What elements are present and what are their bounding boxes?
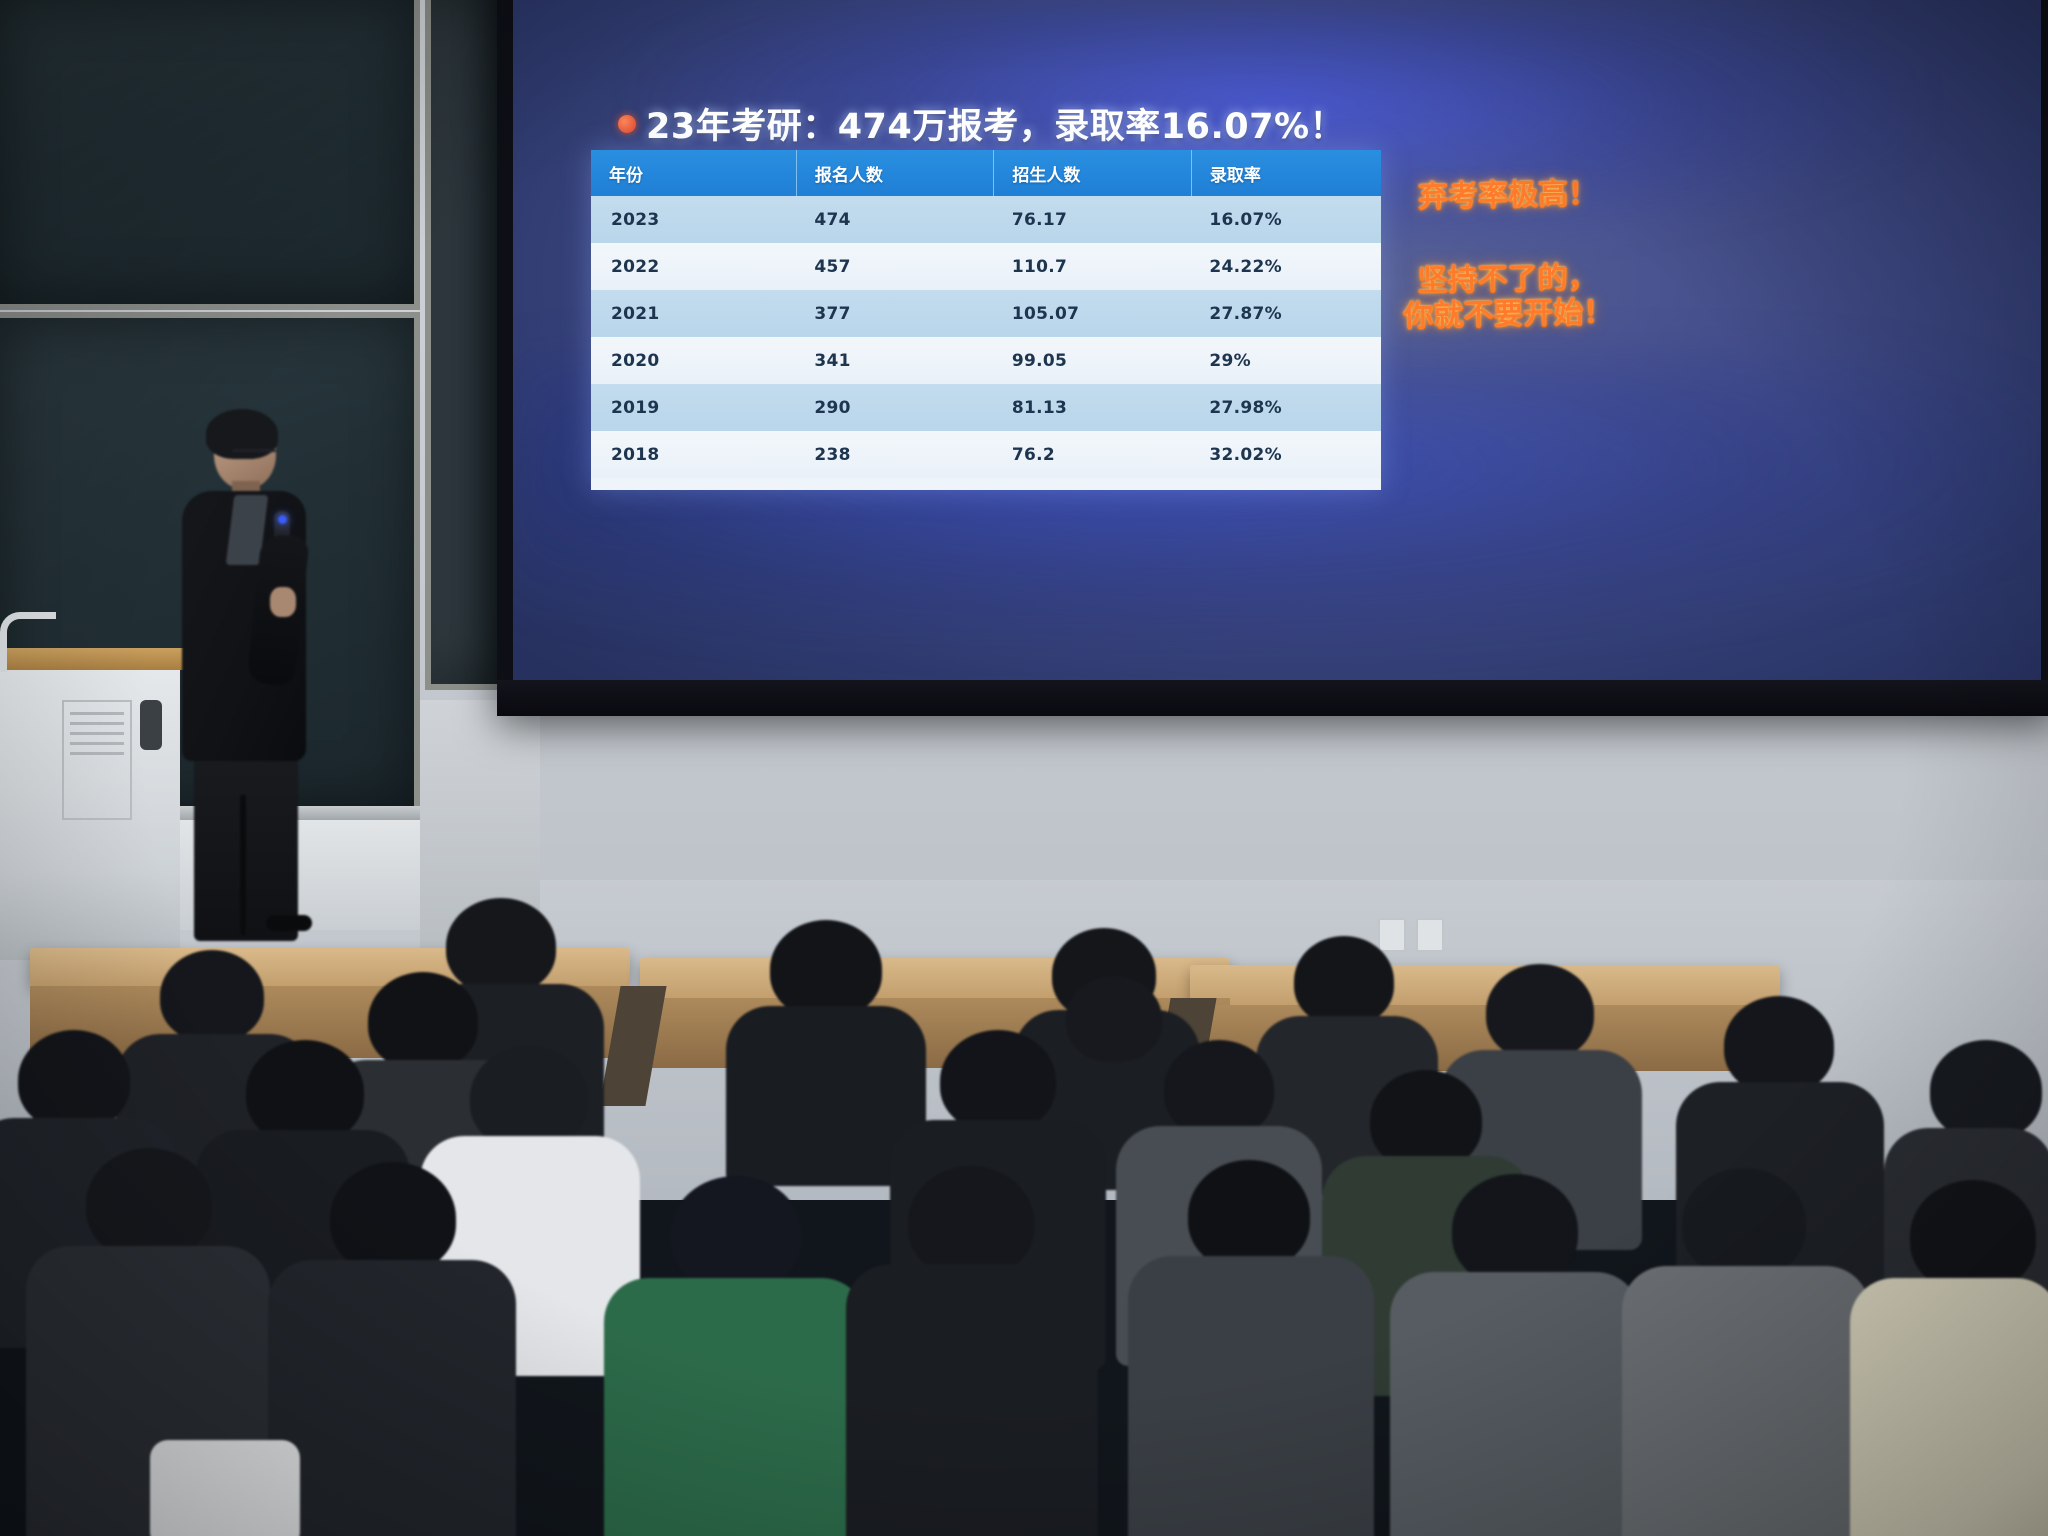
projection-surface: 23年考研：474万报考，录取率16.07%！ 年份 报名人数 招生人数 录取率 bbox=[513, 0, 2041, 680]
table-header: 年份 报名人数 招生人数 录取率 bbox=[591, 150, 1381, 196]
cell-rate: 24.22% bbox=[1191, 243, 1381, 290]
cell-applicants: 290 bbox=[796, 384, 994, 431]
cell-applicants: 238 bbox=[796, 431, 994, 478]
audience-body bbox=[846, 1264, 1098, 1536]
audience-head bbox=[368, 972, 478, 1070]
cell-applicants: 457 bbox=[796, 243, 994, 290]
audience-head bbox=[246, 1040, 364, 1144]
cell-rate: 27.87% bbox=[1191, 290, 1381, 337]
cell-admitted: 76.17 bbox=[994, 196, 1192, 243]
lectern-handle bbox=[140, 700, 162, 750]
chalkboard-side-panel bbox=[425, 0, 505, 690]
screen-frame-bottom bbox=[497, 680, 2048, 716]
audience-chair-back bbox=[150, 1440, 300, 1536]
audience-head bbox=[908, 1166, 1034, 1278]
red-dot-icon bbox=[618, 115, 636, 133]
table-body: 2023 474 76.17 16.07% 2022 457 110.7 24.… bbox=[591, 196, 1381, 478]
cell-applicants: 474 bbox=[796, 196, 994, 243]
audience-body bbox=[1850, 1278, 2048, 1536]
cell-year: 2020 bbox=[591, 337, 796, 384]
cell-applicants: 377 bbox=[796, 290, 994, 337]
audience-body bbox=[268, 1260, 516, 1536]
audience-head bbox=[446, 898, 556, 994]
lectern-mic-arm bbox=[0, 612, 56, 672]
audience-head bbox=[1294, 936, 1394, 1026]
cell-rate: 16.07% bbox=[1191, 196, 1381, 243]
cell-year: 2022 bbox=[591, 243, 796, 290]
audience-head bbox=[86, 1148, 212, 1260]
audience-head bbox=[1682, 1168, 1806, 1278]
table-row: 2018 238 76.2 32.02% bbox=[591, 431, 1381, 478]
cell-year: 2019 bbox=[591, 384, 796, 431]
audience-head bbox=[330, 1162, 456, 1274]
audience-head bbox=[1066, 976, 1162, 1062]
stats-table-container: 年份 报名人数 招生人数 录取率 2023 474 76.17 bbox=[591, 150, 1381, 490]
persistence-note: 坚持不了的， 你就不要开始！ bbox=[1402, 260, 1613, 335]
cell-admitted: 81.13 bbox=[994, 384, 1192, 431]
cell-admitted: 76.2 bbox=[994, 431, 1192, 478]
stats-table: 年份 报名人数 招生人数 录取率 2023 474 76.17 bbox=[591, 150, 1381, 478]
audience-body bbox=[1128, 1256, 1374, 1536]
presenter bbox=[170, 415, 320, 935]
slide-content: 23年考研：474万报考，录取率16.07%！ 年份 报名人数 招生人数 录取率 bbox=[513, 0, 2041, 680]
audience bbox=[0, 880, 2048, 1536]
table-header-row: 年份 报名人数 招生人数 录取率 bbox=[591, 150, 1381, 196]
cell-rate: 27.98% bbox=[1191, 384, 1381, 431]
audience-body bbox=[1622, 1266, 1870, 1536]
slide-title: 23年考研：474万报考，录取率16.07%！ bbox=[618, 98, 1345, 149]
lectern-panel bbox=[62, 700, 132, 820]
table-row: 2023 474 76.17 16.07% bbox=[591, 196, 1381, 243]
slide-title-text: 23年考研：474万报考，录取率16.07%！ bbox=[646, 98, 1345, 149]
cell-year: 2023 bbox=[591, 196, 796, 243]
chalkboard-top-left bbox=[0, 0, 420, 310]
cell-rate: 32.02% bbox=[1191, 431, 1381, 478]
column-header-applicants: 报名人数 bbox=[796, 150, 994, 196]
audience-head bbox=[160, 950, 264, 1042]
column-header-rate: 录取率 bbox=[1191, 150, 1381, 196]
lecture-hall-scene: 23年考研：474万报考，录取率16.07%！ 年份 报名人数 招生人数 录取率 bbox=[0, 0, 2048, 1536]
cell-year: 2018 bbox=[591, 431, 796, 478]
table-row: 2020 341 99.05 29% bbox=[591, 337, 1381, 384]
glasses-icon bbox=[232, 449, 276, 460]
cell-rate: 29% bbox=[1191, 337, 1381, 384]
table-row: 2021 377 105.07 27.87% bbox=[591, 290, 1381, 337]
presenter-hand bbox=[270, 587, 296, 617]
cell-applicants: 341 bbox=[796, 337, 994, 384]
audience-head bbox=[1164, 1040, 1274, 1138]
audience-head bbox=[670, 1176, 802, 1292]
audience-head bbox=[1910, 1180, 2036, 1292]
audience-head bbox=[1724, 996, 1834, 1094]
projector-screen: 23年考研：474万报考，录取率16.07%！ 年份 报名人数 招生人数 录取率 bbox=[497, 0, 2048, 716]
audience-head bbox=[1486, 964, 1594, 1060]
audience-body bbox=[1390, 1272, 1640, 1536]
cell-admitted: 105.07 bbox=[994, 290, 1192, 337]
audience-head bbox=[1452, 1174, 1578, 1286]
table-row: 2022 457 110.7 24.22% bbox=[591, 243, 1381, 290]
microphone-led-icon bbox=[278, 515, 287, 524]
audience-head bbox=[940, 1030, 1056, 1132]
cell-admitted: 99.05 bbox=[994, 337, 1192, 384]
column-header-year: 年份 bbox=[591, 150, 796, 196]
cell-year: 2021 bbox=[591, 290, 796, 337]
table-row: 2019 290 81.13 27.98% bbox=[591, 384, 1381, 431]
audience-head bbox=[1370, 1070, 1482, 1170]
audience-head bbox=[470, 1046, 588, 1150]
persistence-note-line2: 你就不要开始！ bbox=[1403, 295, 1614, 335]
dropout-rate-note: 弃考率极高！ bbox=[1418, 176, 1599, 215]
audience-head bbox=[1930, 1040, 2042, 1140]
audience-head bbox=[1188, 1160, 1310, 1270]
audience-body bbox=[604, 1278, 866, 1536]
persistence-note-line1: 坚持不了的， bbox=[1402, 260, 1613, 300]
column-header-admitted: 招生人数 bbox=[994, 150, 1192, 196]
lectern-vent bbox=[70, 712, 124, 715]
cell-admitted: 110.7 bbox=[994, 243, 1192, 290]
audience-head bbox=[770, 920, 882, 1018]
audience-head bbox=[18, 1030, 130, 1130]
